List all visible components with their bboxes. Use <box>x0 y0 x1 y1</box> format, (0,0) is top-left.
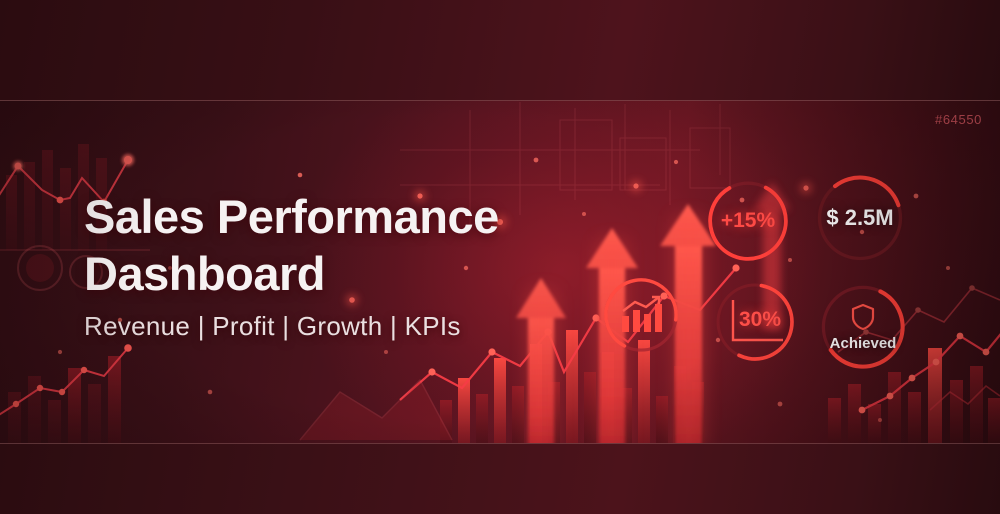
kpi-chart[interactable] <box>602 276 680 354</box>
kpi-target-value: Achieved <box>830 335 897 352</box>
watermark-id: #64550 <box>935 112 982 127</box>
bar-chart-growth-icon <box>618 294 664 336</box>
dashboard-banner: +15% $ 2.5M 30% Achieved <box>0 0 1000 514</box>
ghost-area-chart <box>300 380 452 440</box>
left-lower-chart <box>0 344 132 444</box>
page-title-line2: Dashboard <box>84 245 499 302</box>
letterbox-bottom <box>0 443 1000 514</box>
page-title-line1: Sales Performance <box>84 188 499 245</box>
shield-icon <box>850 303 876 331</box>
kpi-growth[interactable]: +15% <box>705 178 791 264</box>
kpi-target[interactable]: Achieved <box>818 282 908 372</box>
kpi-margin[interactable]: 30% <box>713 280 797 364</box>
letterbox-top <box>0 0 1000 101</box>
left-ghost-pie <box>26 254 54 282</box>
kpi-margin-value: 30% <box>739 308 781 332</box>
center-bar-cluster <box>440 330 704 444</box>
kpi-revenue-value: $ 2.5M <box>826 205 893 231</box>
kpi-growth-value: +15% <box>721 209 775 233</box>
growth-arrow-left <box>516 278 566 452</box>
page-subtitle: Revenue | Profit | Growth | KPIs <box>84 311 499 342</box>
kpi-revenue[interactable]: $ 2.5M <box>814 172 906 264</box>
headline-block: Sales Performance Dashboard Revenue | Pr… <box>84 188 499 342</box>
